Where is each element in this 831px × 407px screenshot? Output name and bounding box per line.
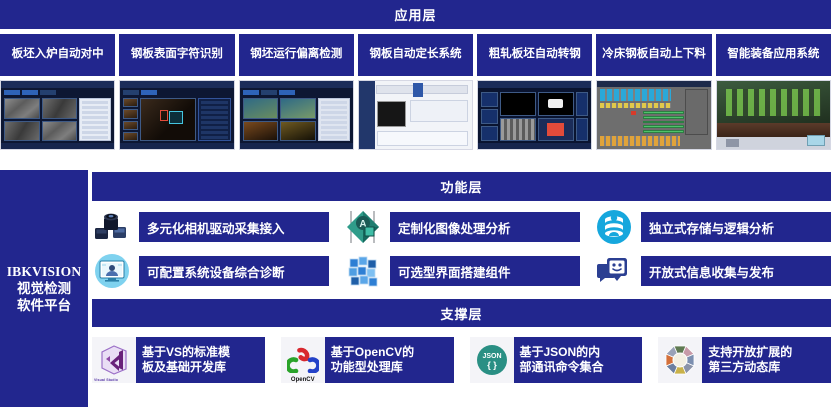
- function-item-label: 独立式存储与逻辑分析: [641, 212, 831, 242]
- application-card-label: 冷床钢板自动上下料: [596, 34, 711, 76]
- third-party-dll-icon: [658, 337, 702, 383]
- application-layer-section: 应用层 板坯入炉自动对中: [0, 0, 831, 150]
- application-card[interactable]: 钢板自动定长系统: [358, 34, 473, 150]
- application-card-label: 钢坯运行偏离检测: [239, 34, 354, 76]
- support-item-label-line2: 部通讯命令集合: [520, 360, 604, 374]
- support-item-label: 基于VS的标准模 板及基础开发库: [136, 337, 236, 383]
- support-item-label-line2: 第三方动态库: [708, 360, 780, 374]
- function-item-label: 可配置系统设备综合诊断: [139, 256, 329, 286]
- support-item-label-line1: 基于VS的标准模: [142, 345, 230, 359]
- support-item-label-line1: 基于JSON的内: [520, 345, 601, 359]
- application-card-label: 钢板自动定长系统: [358, 34, 473, 76]
- billet-deviation-detection-screenshot: [239, 80, 354, 150]
- function-item-label: 开放式信息收集与发布: [641, 256, 831, 286]
- application-card[interactable]: 钢坯运行偏离检测: [239, 34, 354, 150]
- brand-name-en: IBKVISION: [7, 263, 82, 280]
- application-card[interactable]: 钢板表面字符识别: [119, 34, 234, 150]
- function-item[interactable]: A 定制化图像处理分析: [343, 209, 580, 245]
- monitor-diagnostics-icon: [92, 253, 132, 289]
- function-item-label: 定制化图像处理分析: [390, 212, 580, 242]
- support-item-label: 支持开放扩展的 第三方动态库: [702, 337, 798, 383]
- function-item[interactable]: 多元化相机驱动采集接入: [92, 209, 329, 245]
- support-item-label: 基于JSON的内 部通讯命令集合: [514, 337, 610, 383]
- image-processing-diamond-icon: A: [343, 209, 383, 245]
- application-card-label: 板坯入炉自动对中: [0, 34, 115, 76]
- chat-publish-icon: [594, 253, 634, 289]
- plate-surface-character-recognition-screenshot: [119, 80, 234, 150]
- application-card-label: 智能装备应用系统: [716, 34, 831, 76]
- application-card-label: 钢板表面字符识别: [119, 34, 234, 76]
- application-layer-title: 应用层: [0, 0, 831, 29]
- support-item[interactable]: OpenCV 基于OpenCV的 功能型处理库: [281, 337, 454, 383]
- visual-studio-icon: Visual Studio: [92, 337, 136, 383]
- application-card[interactable]: 粗轧板坯自动转钢: [477, 34, 592, 150]
- cooling-bed-auto-loading-screenshot: [596, 80, 711, 150]
- opencv-icon: OpenCV: [281, 337, 325, 383]
- platform-middle-section: IBKVISION 视觉检测 软件平台 功能层: [0, 170, 831, 407]
- camera-icon: [92, 209, 132, 245]
- svg-text:JSON: JSON: [482, 353, 501, 360]
- function-layer-grid: 多元化相机驱动采集接入 A: [92, 209, 831, 289]
- function-item[interactable]: 开放式信息收集与发布: [594, 253, 831, 289]
- function-item-label: 可选型界面搭建组件: [390, 256, 580, 286]
- support-item-label-line2: 功能型处理库: [331, 360, 403, 374]
- layers-column: 功能层: [92, 170, 831, 407]
- function-layer-title: 功能层: [92, 172, 831, 201]
- application-card[interactable]: 智能装备应用系统: [716, 34, 831, 150]
- svg-text:{ }: { }: [487, 360, 497, 370]
- support-layer-title: 支撑层: [92, 299, 831, 327]
- application-card-label: 粗轧板坯自动转钢: [477, 34, 592, 76]
- function-item[interactable]: 可配置系统设备综合诊断: [92, 253, 329, 289]
- visual-studio-caption: Visual Studio: [94, 378, 118, 382]
- application-card-list: 板坯入炉自动对中: [0, 34, 831, 150]
- opencv-caption: OpenCV: [281, 377, 325, 383]
- function-item-label: 多元化相机驱动采集接入: [139, 212, 329, 242]
- cube-components-icon: [343, 253, 383, 289]
- json-icon: JSON { }: [470, 337, 514, 383]
- application-card[interactable]: 板坯入炉自动对中: [0, 34, 115, 150]
- brand-name-cn-line2: 软件平台: [17, 297, 71, 314]
- database-storage-icon: [594, 209, 634, 245]
- brand-name-cn-line1: 视觉检测: [17, 280, 71, 297]
- application-card[interactable]: 冷床钢板自动上下料: [596, 34, 711, 150]
- support-item[interactable]: JSON { } 基于JSON的内 部通讯命令集合: [470, 337, 643, 383]
- function-item[interactable]: 可选型界面搭建组件: [343, 253, 580, 289]
- function-item[interactable]: 独立式存储与逻辑分析: [594, 209, 831, 245]
- support-item-label-line2: 板及基础开发库: [142, 360, 226, 374]
- plate-auto-length-screenshot: [358, 80, 473, 150]
- rough-rolling-auto-turning-screenshot: [477, 80, 592, 150]
- brand-sidebar: IBKVISION 视觉检测 软件平台: [0, 170, 88, 407]
- support-item[interactable]: Visual Studio 基于VS的标准模 板及基础开发库: [92, 337, 265, 383]
- support-item-label-line1: 支持开放扩展的: [708, 345, 792, 359]
- smart-equipment-application-screenshot: [716, 80, 831, 150]
- ibkvision-architecture-diagram: 应用层 板坯入炉自动对中: [0, 0, 831, 407]
- support-item-label: 基于OpenCV的 功能型处理库: [325, 337, 420, 383]
- support-item[interactable]: 支持开放扩展的 第三方动态库: [658, 337, 831, 383]
- support-item-label-line1: 基于OpenCV的: [331, 345, 414, 359]
- slab-furnace-centering-screenshot: [0, 80, 115, 150]
- support-layer-grid: Visual Studio 基于VS的标准模 板及基础开发库: [92, 337, 831, 383]
